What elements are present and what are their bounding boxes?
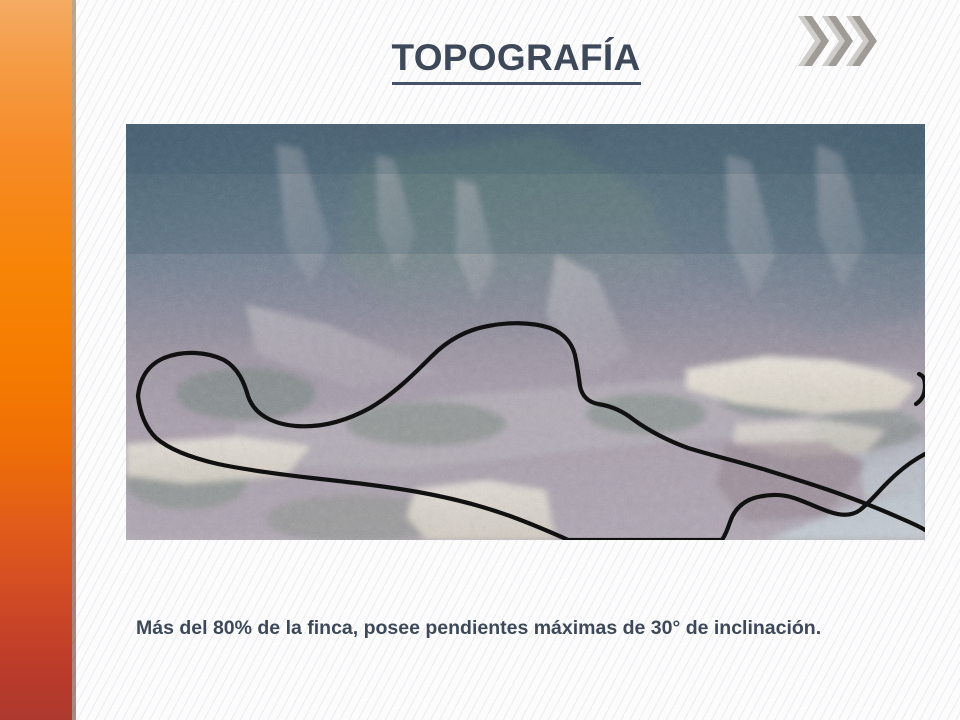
caption-block: Más del 80% de la finca, posee pendiente… (136, 612, 925, 645)
aerial-terrain-photograph (126, 124, 925, 540)
caption-text: Más del 80% de la finca, posee pendiente… (136, 612, 925, 645)
left-accent-bar (0, 0, 72, 720)
triple-chevron-right-icon (796, 14, 882, 68)
left-accent-bar-edge (72, 0, 76, 720)
presentation-slide: TOPOGRAFÍA (0, 0, 960, 720)
page-title: TOPOGRAFÍA (392, 36, 641, 85)
